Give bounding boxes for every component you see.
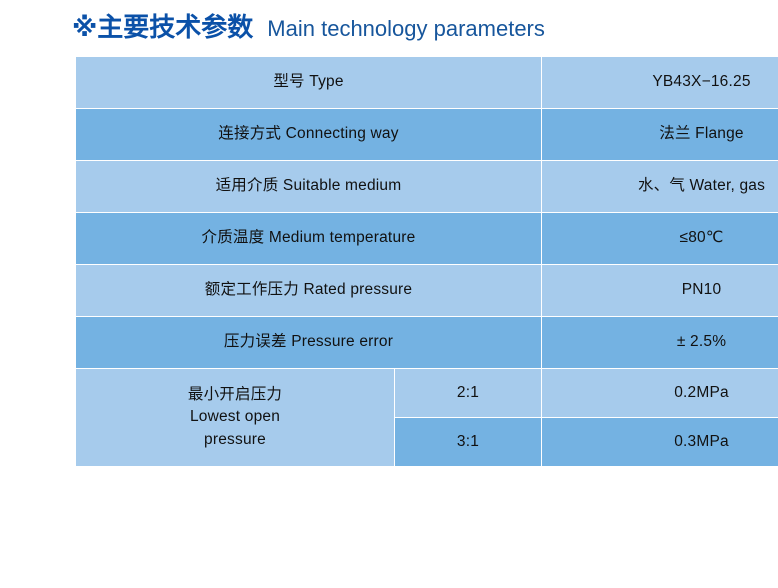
merged-label-line-3: pressure <box>76 429 394 451</box>
table-row: 型号 Type YB43X−16.25 <box>76 57 778 109</box>
row-label: 连接方式 Connecting way <box>76 109 542 161</box>
row-value: 0.2MPa <box>542 369 778 418</box>
table-row: 额定工作压力 Rated pressure PN10 <box>76 265 778 317</box>
row-value: YB43X−16.25 <box>542 57 778 109</box>
table-row: 压力误差 Pressure error ± 2.5% <box>76 317 778 369</box>
page-title-chinese: 主要技术参数 <box>97 14 253 40</box>
ratio-value: 3:1 <box>395 418 542 467</box>
row-label: 适用介质 Suitable medium <box>76 161 542 213</box>
row-label: 额定工作压力 Rated pressure <box>76 265 542 317</box>
row-value: ± 2.5% <box>542 317 778 369</box>
merged-row-label: 最小开启压力 Lowest open pressure <box>76 369 395 467</box>
row-label: 介质温度 Medium temperature <box>76 213 542 265</box>
page-title-english: Main technology parameters <box>267 18 545 40</box>
merged-label-line-2: Lowest open <box>76 406 394 428</box>
row-value: 0.3MPa <box>542 418 778 467</box>
row-value: 水、气 Water, gas <box>542 161 778 213</box>
technology-parameters-table: 型号 Type YB43X−16.25 连接方式 Connecting way … <box>75 56 778 467</box>
row-value: PN10 <box>542 265 778 317</box>
ratio-value: 2:1 <box>395 369 542 418</box>
row-label: 压力误差 Pressure error <box>76 317 542 369</box>
table-row: 连接方式 Connecting way 法兰 Flange <box>76 109 778 161</box>
row-value: ≤80℃ <box>542 213 778 265</box>
merged-label-line-1: 最小开启压力 <box>76 384 394 406</box>
row-value: 法兰 Flange <box>542 109 778 161</box>
page-title: ※ 主要技术参数 Main technology parameters <box>72 14 545 40</box>
asterisk-mark-icon: ※ <box>72 14 97 40</box>
slide-canvas: ※ 主要技术参数 Main technology parameters 型号 T… <box>0 0 778 588</box>
table-row: 最小开启压力 Lowest open pressure 2:1 0.2MPa <box>76 369 778 418</box>
row-label: 型号 Type <box>76 57 542 109</box>
table-row: 介质温度 Medium temperature ≤80℃ <box>76 213 778 265</box>
table-row: 适用介质 Suitable medium 水、气 Water, gas <box>76 161 778 213</box>
